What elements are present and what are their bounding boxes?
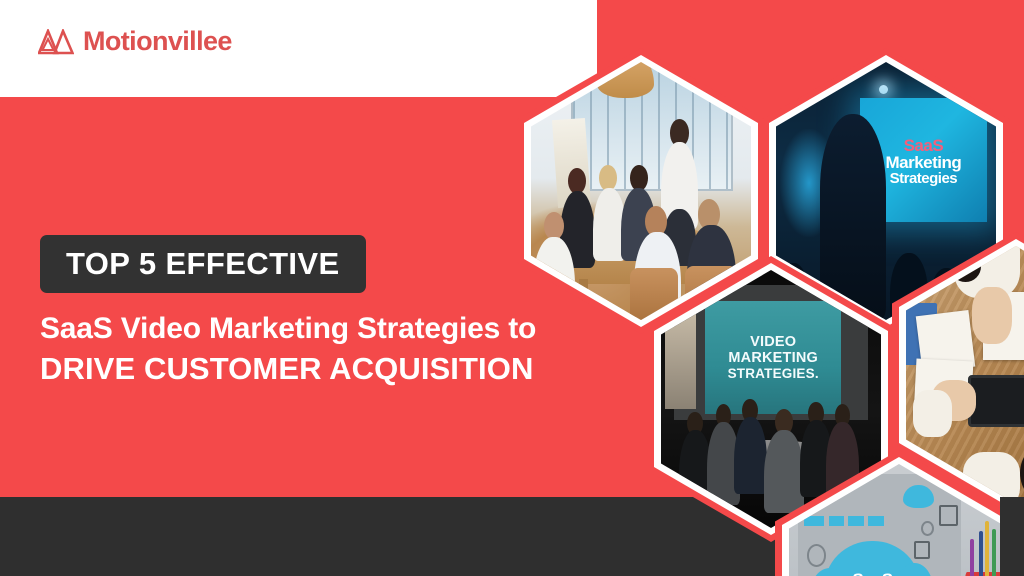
mountain-triangles-icon (38, 29, 74, 55)
eyebrow-label: TOP 5 EFFECTIVE (66, 248, 340, 279)
footer-accent-right (1000, 497, 1024, 576)
screen-line-1: VIDEO (750, 334, 796, 350)
brand-logo[interactable]: Motionvillee (38, 28, 232, 55)
eyebrow-badge: TOP 5 EFFECTIVE (40, 235, 366, 293)
headline-block: TOP 5 EFFECTIVE SaaS Video Marketing Str… (40, 235, 660, 387)
brand-name: Motionvillee (83, 28, 232, 55)
screen-line-3: STRATEGIES. (728, 366, 819, 381)
saas-cloud-label: SaaS (852, 570, 892, 576)
headline-line-1: SaaS Video Marketing Strategies to (40, 312, 660, 347)
screen-line-2: MARKETING (728, 350, 818, 366)
screen-line-3: Strategies (890, 171, 958, 188)
screen-line-2: Marketing (885, 154, 961, 172)
banner-canvas: SaaS Marketing Strategies (0, 0, 1024, 576)
headline-line-2: DRIVE CUSTOMER ACQUISITION (40, 351, 660, 387)
presentation-screen: VIDEO MARKETING STRATEGIES. (705, 301, 841, 415)
screen-line-1: SaaS (904, 137, 944, 154)
